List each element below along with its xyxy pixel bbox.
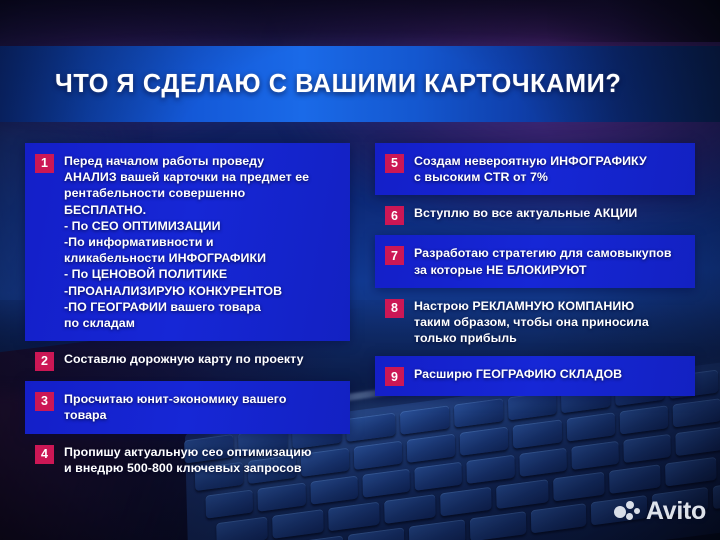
list-item: 6Вступлю во все актуальные АКЦИИ: [375, 195, 695, 235]
list-item: 7Разработаю стратегию для самовыкупов за…: [375, 235, 695, 287]
item-text: Составлю дорожную карту по проекту: [64, 351, 304, 367]
left-column: 1Перед началом работы проведу АНАЛИЗ ваш…: [25, 143, 350, 486]
right-column: 5Создам невероятную ИНФОГРАФИКУ с высоки…: [375, 143, 695, 396]
avito-logo-icon: [614, 501, 640, 523]
item-number-badge: 8: [385, 299, 404, 318]
item-number-badge: 4: [35, 445, 54, 464]
item-text: Просчитаю юнит-экономику вашего товара: [64, 391, 286, 423]
list-item: 9Расширю ГЕОГРАФИЮ СКЛАДОВ: [375, 356, 695, 396]
item-text: Настрою РЕКЛАМНУЮ КОМПАНИЮ таким образом…: [414, 298, 649, 347]
item-text: Разработаю стратегию для самовыкупов за …: [414, 245, 672, 277]
item-number-badge: 9: [385, 367, 404, 386]
item-text: Перед началом работы проведу АНАЛИЗ ваше…: [64, 153, 309, 331]
list-item: 5Создам невероятную ИНФОГРАФИКУ с высоки…: [375, 143, 695, 195]
list-item: 8Настрою РЕКЛАМНУЮ КОМПАНИЮ таким образо…: [375, 288, 695, 357]
avito-watermark: Avito: [614, 497, 706, 526]
list-item: 1Перед началом работы проведу АНАЛИЗ ваш…: [25, 143, 350, 341]
list-item: 4Пропишу актуальную сео оптимизацию и вн…: [25, 434, 350, 486]
title-container: ЧТО Я СДЕЛАЮ С ВАШИМИ КАРТОЧКАМИ?: [0, 46, 720, 122]
item-number-badge: 5: [385, 154, 404, 173]
item-number-badge: 7: [385, 246, 404, 265]
avito-wordmark: Avito: [646, 497, 706, 526]
list-item: 3Просчитаю юнит-экономику вашего товара: [25, 381, 350, 433]
item-text: Создам невероятную ИНФОГРАФИКУ с высоким…: [414, 153, 647, 185]
list-item: 2Составлю дорожную карту по проекту: [25, 341, 350, 381]
slide-content: ЧТО Я СДЕЛАЮ С ВАШИМИ КАРТОЧКАМИ? 1Перед…: [0, 0, 720, 540]
item-text: Расширю ГЕОГРАФИЮ СКЛАДОВ: [414, 366, 622, 382]
item-number-badge: 3: [35, 392, 54, 411]
item-text: Пропишу актуальную сео оптимизацию и вне…: [64, 444, 312, 476]
item-text: Вступлю во все актуальные АКЦИИ: [414, 205, 637, 221]
item-number-badge: 6: [385, 206, 404, 225]
page-title: ЧТО Я СДЕЛАЮ С ВАШИМИ КАРТОЧКАМИ?: [55, 70, 621, 99]
item-number-badge: 2: [35, 352, 54, 371]
item-number-badge: 1: [35, 154, 54, 173]
